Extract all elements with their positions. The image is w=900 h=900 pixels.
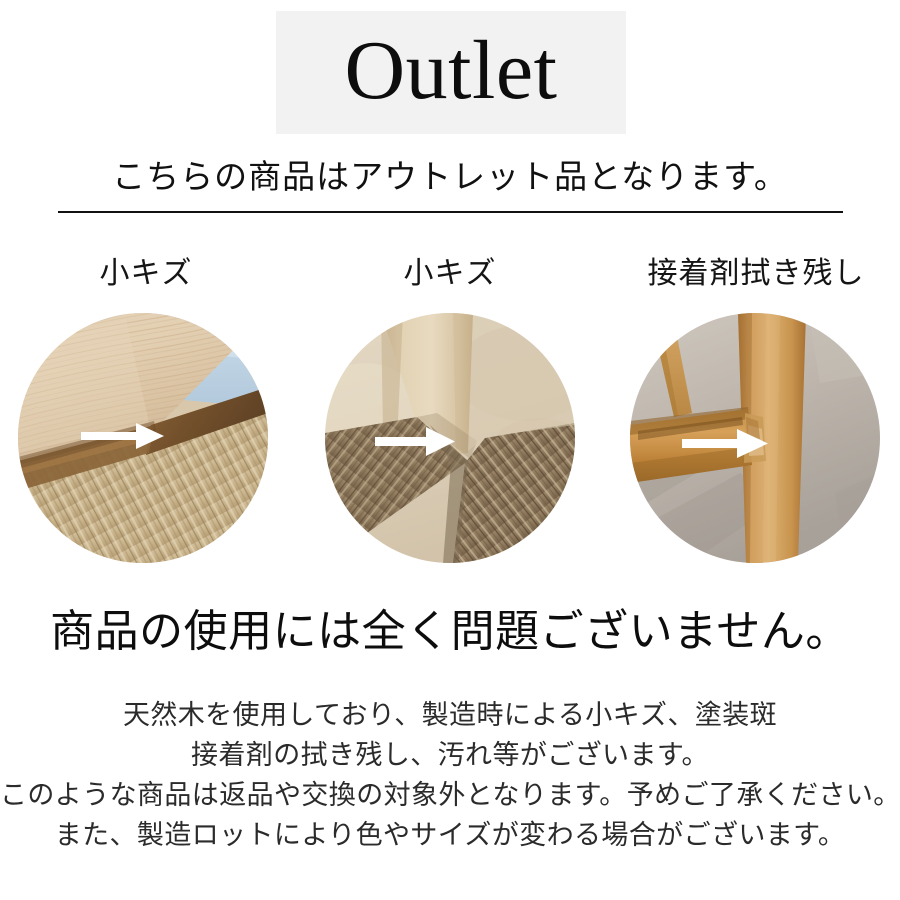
defect-photo-item: 小キズ (0, 256, 300, 576)
defect-photo-circle-2 (325, 313, 575, 563)
title-band: Outlet (276, 11, 626, 134)
defect-photo-item: 小キズ (300, 256, 600, 576)
defect-photo-item: 接着剤拭き残し (600, 256, 900, 576)
body-paragraph: 天然木を使用しており、製造時による小キズ、塗装斑 接着剤の拭き残し、汚れ等がござ… (0, 695, 900, 855)
chair-joint-glue-residue-photo (630, 313, 880, 563)
page-title: Outlet (345, 29, 558, 113)
chair-leg-post-rope-seat-photo (325, 313, 575, 563)
headline-wrap: 商品の使用には全く問題ございません。 (0, 606, 900, 659)
defect-photo-circle-1 (18, 313, 268, 563)
subtitle-underline (58, 211, 843, 213)
defect-photo-circle-3 (630, 313, 880, 563)
chair-frame-rope-seat-photo (18, 313, 268, 563)
body-line-2: 接着剤の拭き残し、汚れ等がございます。 (0, 735, 900, 775)
photo-caption: 接着剤拭き残し (606, 256, 900, 292)
body-line-3: このような商品は返品や交換の対象外となります。予めご了承ください。 (0, 775, 900, 815)
subtitle: こちらの商品はアウトレット品となります。 (112, 158, 788, 199)
photo-caption: 小キズ (0, 256, 296, 292)
outlet-notice-page: Outlet こちらの商品はアウトレット品となります。 小キズ (0, 0, 900, 900)
defect-photo-row: 小キズ (0, 256, 900, 576)
body-line-4: また、製造ロットにより色やサイズが変わる場合がございます。 (0, 815, 900, 855)
body-line-1: 天然木を使用しており、製造時による小キズ、塗装斑 (0, 695, 900, 735)
subtitle-wrap: こちらの商品はアウトレット品となります。 (0, 158, 900, 199)
photo-caption: 小キズ (300, 256, 600, 292)
headline: 商品の使用には全く問題ございません。 (50, 606, 850, 659)
